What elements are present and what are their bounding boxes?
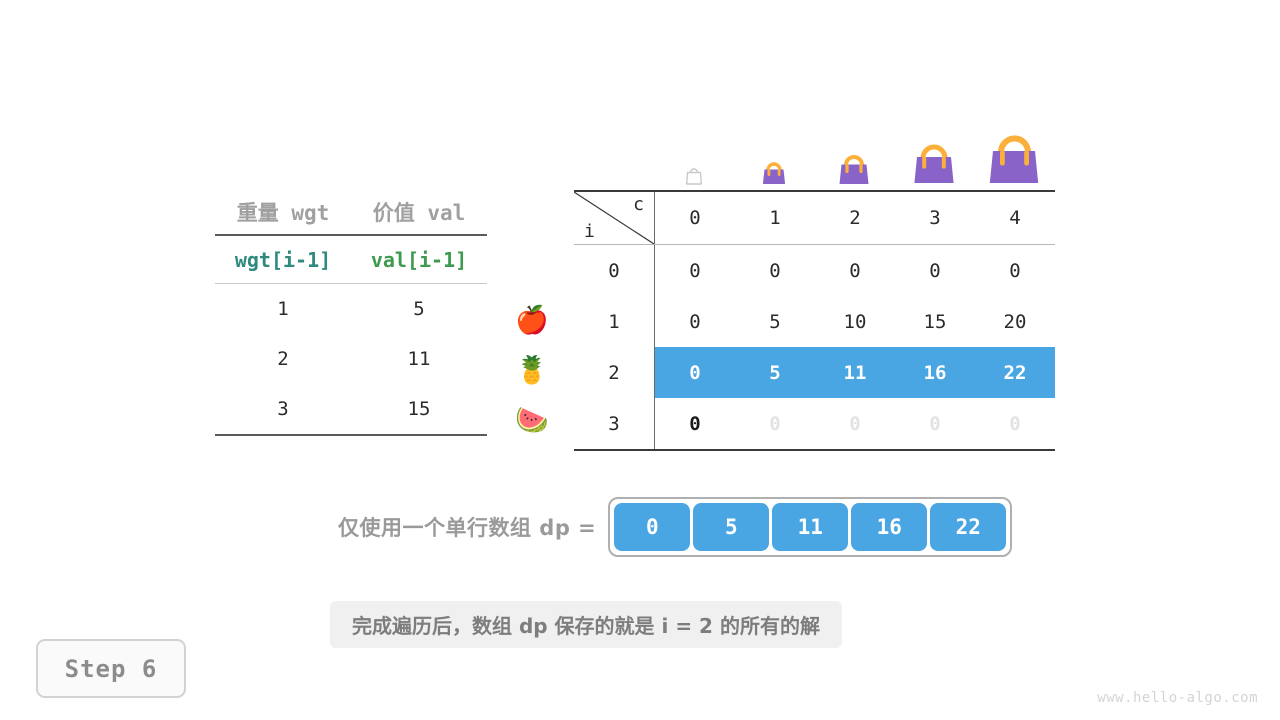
table-row: 0 0 0 0 0 0 [574,245,1055,297]
dp-col-header-4: 4 [975,191,1055,245]
dp-row-index-3: 3 [574,398,655,450]
dp-array-label: 仅使用一个单行数组 dp = [338,512,596,542]
item-table-subheader-row: wgt[i-1] val[i-1] [215,235,487,284]
dp-col-header-2: 2 [815,191,895,245]
item-value-1: 5 [351,284,487,335]
dp-array-cell-1: 5 [693,503,769,551]
dp-array-cell-4: 22 [930,503,1006,551]
item-weight-2: 2 [215,334,351,384]
dp-cell-2-0: 0 [655,347,736,398]
apple-icon: 🍎 [506,296,558,346]
dp-cell-2-2: 11 [815,347,895,398]
dp-cell-3-4: 0 [975,398,1055,450]
item-table-subheader-wgt: wgt[i-1] [215,235,351,284]
dp-col-header-3: 3 [895,191,975,245]
dp-cell-3-0: 0 [655,398,736,450]
dp-cell-2-3: 16 [895,347,975,398]
dp-cell-2-1: 5 [735,347,815,398]
item-weight-1: 1 [215,284,351,335]
item-table-header-weight: 重量 wgt [215,190,351,235]
dp-row-index-0: 0 [574,245,655,297]
table-row: 1 5 [215,284,487,335]
dp-cell-0-1: 0 [735,245,815,297]
dp-cell-1-1: 5 [735,296,815,347]
knapsack-icon-2 [814,118,894,186]
dp-row-index-1: 1 [574,296,655,347]
table-row-highlighted: 2 0 5 11 16 22 [574,347,1055,398]
table-row: 1 0 5 10 15 20 [574,296,1055,347]
watermelon-icon: 🍉 [506,396,558,446]
dp-cell-0-0: 0 [655,245,736,297]
item-icon-column: 🍎 🍍 🍉 [506,296,558,446]
dp-cell-1-3: 15 [895,296,975,347]
table-row: 3 0 0 0 0 0 [574,398,1055,450]
dp-array-cell-2: 11 [772,503,848,551]
dp-table: i c 0 1 2 3 4 0 0 0 0 0 0 1 [574,190,1055,451]
dp-cell-0-3: 0 [895,245,975,297]
item-table-header-row: 重量 wgt 价值 val [215,190,487,235]
dp-cell-3-3: 0 [895,398,975,450]
pineapple-icon: 🍍 [506,346,558,396]
dp-table-row-axis-label: i [584,221,595,242]
dp-cell-3-1: 0 [735,398,815,450]
dp-cell-3-2: 0 [815,398,895,450]
dp-table-col-axis-label: c [633,194,644,215]
dp-cell-2-4: 22 [975,347,1055,398]
dp-array-container: 0 5 11 16 22 [608,497,1012,557]
item-weight-3: 3 [215,384,351,435]
site-watermark: www.hello-algo.com [1097,690,1258,706]
dp-table-header-row: i c 0 1 2 3 4 [574,191,1055,245]
dp-single-row-array-section: 仅使用一个单行数组 dp = 0 5 11 16 22 [338,497,1012,557]
item-value-2: 11 [351,334,487,384]
dp-matrix-table: i c 0 1 2 3 4 0 0 0 0 0 0 1 [574,190,1054,451]
dp-cell-0-2: 0 [815,245,895,297]
dp-cell-1-2: 10 [815,296,895,347]
dp-row-index-2: 2 [574,347,655,398]
table-row: 2 11 [215,334,487,384]
table-row: 3 15 [215,384,487,435]
dp-array-cell-0: 0 [614,503,690,551]
dp-cell-0-4: 0 [975,245,1055,297]
knapsack-icon-3 [894,118,974,186]
dp-table-corner-cell: i c [574,191,655,245]
dp-cell-1-0: 0 [655,296,736,347]
dp-cell-1-4: 20 [975,296,1055,347]
knapsack-capacity-icon-row [654,118,1054,186]
dp-col-header-1: 1 [735,191,815,245]
item-table: 重量 wgt 价值 val wgt[i-1] val[i-1] 1 5 2 11… [215,190,487,436]
knapsack-icon-4 [974,118,1054,186]
item-weight-value-table: 重量 wgt 价值 val wgt[i-1] val[i-1] 1 5 2 11… [215,190,487,436]
explanation-caption: 完成遍历后，数组 dp 保存的就是 i = 2 的所有的解 [330,601,842,648]
item-table-header-value: 价值 val [351,190,487,235]
item-value-3: 15 [351,384,487,435]
item-table-subheader-val: val[i-1] [351,235,487,284]
dp-array-cell-3: 16 [851,503,927,551]
dp-col-header-0: 0 [655,191,736,245]
knapsack-icon-1 [734,118,814,186]
step-badge: Step 6 [36,639,186,698]
knapsack-icon-0 [654,118,734,186]
